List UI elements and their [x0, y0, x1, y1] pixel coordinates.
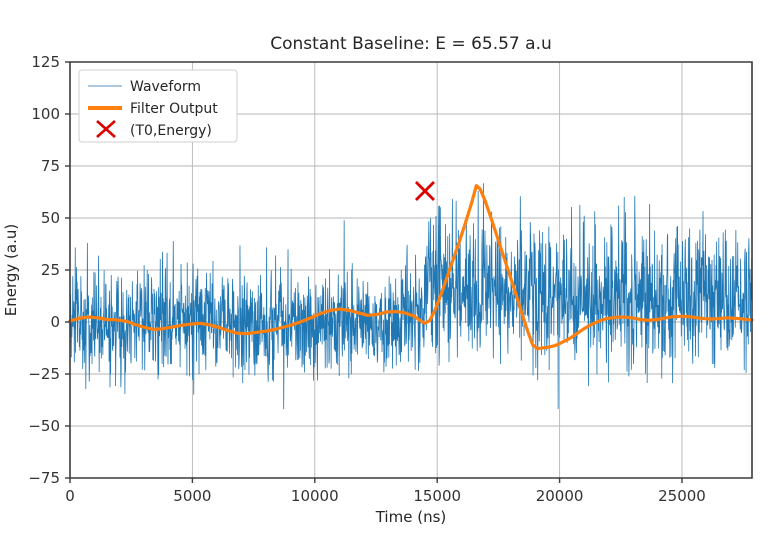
x-tick-label: 20000: [536, 487, 584, 505]
chart-title: Constant Baseline: E = 65.57 a.u: [270, 34, 552, 54]
x-tick-label: 15000: [413, 487, 461, 505]
x-tick-label: 5000: [173, 487, 211, 505]
y-tick-label: 50: [41, 209, 60, 227]
waveform-chart: Constant Baseline: E = 65.57 a.u Time (n…: [0, 0, 768, 546]
x-tick-label: 10000: [291, 487, 339, 505]
x-tick-label: 0: [65, 487, 75, 505]
y-tick-label: −50: [28, 417, 60, 435]
chart-legend[interactable]: Waveform Filter Output (T0,Energy): [79, 70, 237, 142]
y-tick-label: 75: [41, 157, 60, 175]
legend-label-t0-energy: (T0,Energy): [130, 123, 212, 139]
x-tick-label: 25000: [658, 487, 706, 505]
legend-label-filter-output: Filter Output: [130, 101, 218, 117]
figure-canvas: Constant Baseline: E = 65.57 a.u Time (n…: [0, 0, 768, 546]
y-tick-label: 125: [31, 53, 60, 71]
y-tick-label: −25: [28, 365, 60, 383]
y-tick-label: 100: [31, 105, 60, 123]
y-tick-label: 25: [41, 261, 60, 279]
y-axis-label: Energy (a.u): [2, 224, 20, 316]
legend-label-waveform: Waveform: [130, 79, 201, 95]
y-tick-label: 0: [50, 313, 60, 331]
y-tick-label: −75: [28, 469, 60, 487]
x-axis-label: Time (ns): [375, 508, 447, 526]
